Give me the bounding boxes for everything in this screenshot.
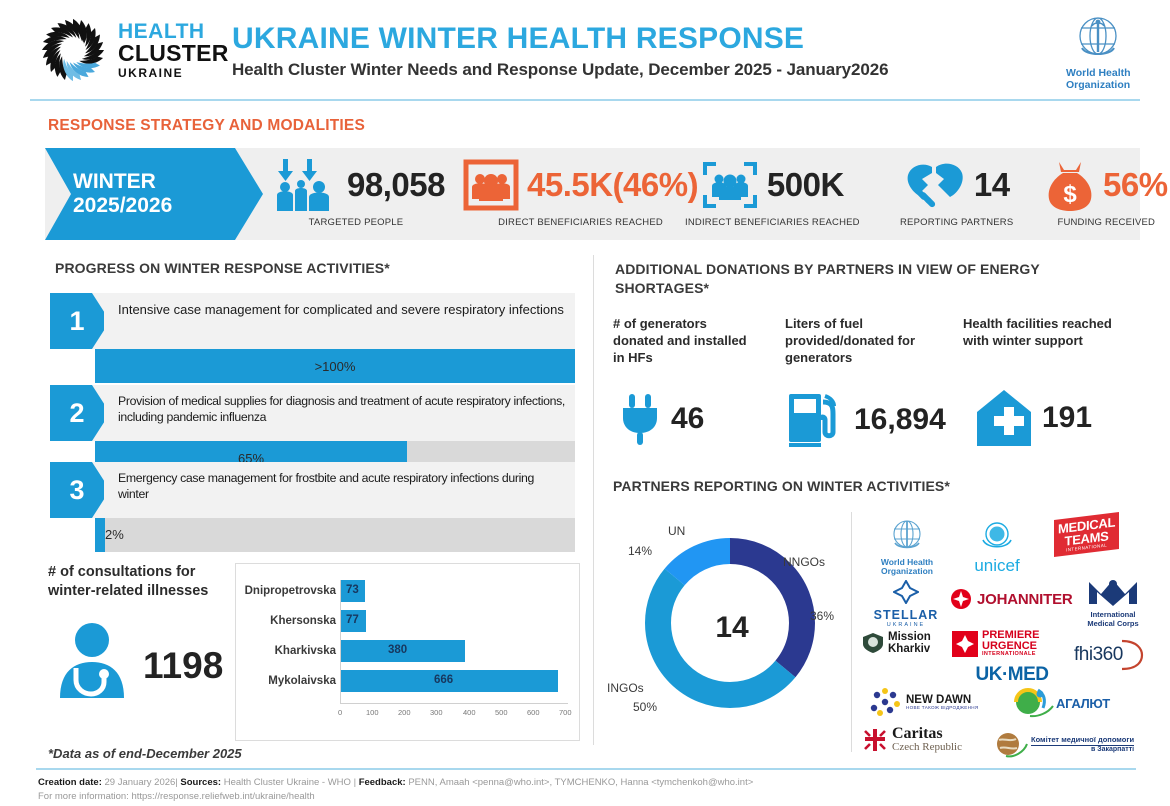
- donut-percent-ingos: 50%: [633, 700, 657, 714]
- partner-caritas-line1: Caritas: [892, 726, 962, 742]
- bar-label-0: Dnipropetrovska: [240, 585, 336, 597]
- x-tick-4: 400: [463, 708, 476, 717]
- partner-stellar-line1: STELLAR: [866, 609, 946, 622]
- progress-activity-3-text: Emergency case management for frostbite …: [104, 462, 575, 518]
- partner-johanniter-text: JOHANNITER: [977, 591, 1073, 608]
- section-title-response-strategy: RESPONSE STRATEGY AND MODALITIES: [48, 117, 365, 135]
- agalyut-globe-icon: [1010, 686, 1054, 720]
- imc-emblem-icon: [1085, 576, 1141, 606]
- doctor-stethoscope-icon: [52, 620, 132, 707]
- progress-activity-3-number: 3: [50, 462, 104, 518]
- stat-label-direct-beneficiaries: DIRECT BENEFICIARIES REACHED: [498, 217, 663, 228]
- partner-logo-agalyut: АГАЛЮТ: [1010, 686, 1150, 720]
- partner-logo-johanniter: JOHANNITER: [950, 588, 1078, 610]
- donation-value-fuel: 16,894: [854, 403, 946, 437]
- footer-more-info[interactable]: For more information: https://response.r…: [38, 790, 753, 804]
- people-frame-icon: [463, 159, 519, 211]
- stat-value-reporting-partners: 14: [974, 166, 1010, 204]
- partner-unicef-text: unicef: [957, 556, 1037, 576]
- partner-newdawn-line2: НОВЕ ТАКОЖ ВІДРОДЖЕННЯ: [906, 706, 978, 711]
- stat-direct-beneficiaries: 45.5K(46%) DIRECT BENEFICIARIES REACHED: [463, 156, 698, 240]
- x-tick-6: 600: [527, 708, 540, 717]
- stat-targeted-people: 98,058 TARGETED PEOPLE: [267, 156, 445, 240]
- stat-label-indirect-beneficiaries: INDIRECT BENEFICIARIES REACHED: [685, 217, 860, 228]
- partner-caritas-line2: Czech Republic: [892, 742, 962, 753]
- bar-label-2: Kharkivska: [240, 645, 336, 657]
- partner-logo-fhi360: fhi360: [1074, 638, 1154, 672]
- footer-creation-label: Creation date:: [38, 777, 102, 788]
- stats-band: WINTER 2025/2026 98,058 TARGETED PEOPLE: [45, 148, 1140, 240]
- health-cluster-swirl-icon: [36, 13, 110, 87]
- donut-percent-un: 14%: [628, 544, 652, 558]
- bar-label-3: Mykolaivska: [240, 675, 336, 687]
- partner-logo-komitet: Комітет медичної допомоги в Закарпатті: [994, 730, 1154, 760]
- progress-activity-1-bar-fill: >100%: [95, 349, 575, 383]
- chart-x-axis: [340, 703, 568, 704]
- donut-label-nngos: NNGOs: [783, 555, 825, 569]
- partner-stellar-line2: UKRAINE: [866, 622, 946, 628]
- who-line1: World Health: [1066, 67, 1156, 79]
- x-tick-3: 300: [430, 708, 443, 717]
- progress-activity-3-header: 3 Emergency case management for frostbit…: [50, 462, 575, 518]
- progress-activity-2-text: Provision of medical supplies for diagno…: [104, 385, 575, 441]
- people-scan-icon: [701, 159, 759, 211]
- data-as-of-note: *Data as of end-December 2025: [48, 746, 242, 761]
- partner-logo-caritas: Caritas Czech Republic: [862, 726, 988, 754]
- section-title-progress: PROGRESS ON WINTER RESPONSE ACTIVITIES*: [55, 260, 390, 276]
- winter-season-chevron: WINTER 2025/2026: [45, 148, 263, 240]
- partner-imc-line2: Medical Corps: [1087, 619, 1138, 628]
- bar-label-1: Khersonska: [240, 615, 336, 627]
- komitet-globe-icon: [994, 730, 1028, 760]
- unicef-emblem-icon: [978, 520, 1016, 552]
- section-title-donations: ADDITIONAL DONATIONS BY PARTNERS IN VIEW…: [615, 260, 1135, 298]
- people-arrows-down-icon: [267, 157, 339, 213]
- partner-logos-panel: World Health Organization unicef MEDICAL…: [862, 518, 1152, 756]
- donation-column-title-fuel: Liters of fuel provided/donated for gene…: [785, 315, 940, 366]
- partner-logo-who: World Health Organization: [866, 518, 948, 577]
- bar-value-1: 77: [346, 614, 359, 626]
- svg-text:$: $: [1063, 181, 1077, 208]
- partner-logo-premiere-urgence: PREMIERE URGENCE INTERNATIONALE: [952, 630, 1082, 658]
- logo-cluster-text: CLUSTER: [118, 42, 229, 65]
- money-bag-icon: $: [1045, 158, 1095, 212]
- header-divider: [30, 99, 1140, 101]
- page-title: UKRAINE WINTER HEALTH RESPONSE: [232, 22, 888, 56]
- new-dawn-mark-icon: [868, 686, 902, 718]
- partner-mk-line2: Kharkiv: [888, 643, 931, 655]
- progress-activity-1-header: 1 Intensive case management for complica…: [50, 293, 575, 349]
- partner-ukmed-text: UK·MED: [958, 664, 1066, 686]
- partner-pui-line3: INTERNATIONALE: [982, 652, 1039, 658]
- x-tick-2: 200: [398, 708, 411, 717]
- stat-label-funding-received: FUNDING RECEIVED: [1057, 217, 1155, 228]
- caritas-cross-icon: [862, 727, 888, 753]
- hospital-cross-icon: [975, 388, 1033, 448]
- who-name: World Health Organization: [1040, 67, 1156, 91]
- column-divider: [593, 255, 594, 745]
- partner-logo-medical-teams: MEDICAL TEAMS INTERNATIONAL: [1044, 516, 1130, 554]
- progress-activity-3-percent: 2%: [105, 527, 124, 542]
- page-subtitle: Health Cluster Winter Needs and Response…: [232, 60, 888, 80]
- who-logo: World Health Organization: [1040, 14, 1156, 91]
- partner-komitet-line2: в Закарпатті: [1031, 746, 1134, 754]
- stat-value-funding-received: 56%: [1103, 166, 1168, 204]
- stat-value-targeted-people: 98,058: [347, 166, 445, 204]
- progress-activity-2-number: 2: [50, 385, 104, 441]
- handshake-icon: [904, 159, 966, 211]
- progress-activity-2-header: 2 Provision of medical supplies for diag…: [50, 385, 575, 441]
- partner-komitet-line1: Комітет медичної допомоги: [1031, 735, 1134, 746]
- bar-value-2: 380: [388, 644, 407, 656]
- donation-column-title-facilities: Health facilities reached with winter su…: [963, 315, 1123, 349]
- stat-value-direct-beneficiaries: 45.5K(46%): [527, 166, 698, 204]
- progress-activity-1: 1 Intensive case management for complica…: [50, 293, 575, 383]
- title-block: UKRAINE WINTER HEALTH RESPONSE Health Cl…: [232, 22, 888, 80]
- bar-value-0: 73: [346, 584, 359, 596]
- partner-newdawn-line1: NEW DAWN: [906, 694, 978, 706]
- premiere-urgence-mark-icon: [952, 631, 978, 657]
- partner-logo-new-dawn: NEW DAWN НОВЕ ТАКОЖ ВІДРОДЖЕННЯ: [868, 686, 994, 718]
- partner-logo-ukmed: UK·MED: [958, 664, 1066, 686]
- footer: Creation date: 29 January 2026| Sources:…: [38, 776, 753, 805]
- donation-column-title-generators: # of generators donated and installed in…: [613, 315, 753, 366]
- page-header: HEALTH CLUSTER UKRAINE UKRAINE WINTER HE…: [0, 0, 1170, 100]
- donation-value-fuel-group: 16,894: [785, 392, 946, 448]
- x-tick-5: 500: [495, 708, 508, 717]
- progress-activity-1-text: Intensive case management for complicate…: [104, 293, 574, 349]
- partner-logo-imc: International Medical Corps: [1074, 576, 1152, 628]
- infographic-page: HEALTH CLUSTER UKRAINE UKRAINE WINTER HE…: [0, 0, 1170, 806]
- mission-kharkiv-shield-icon: [862, 632, 884, 654]
- winter-label-line2: 2025/2026: [73, 194, 263, 218]
- fhi360-arc-icon: [1120, 638, 1144, 672]
- logo-health-text: HEALTH: [118, 21, 229, 42]
- winter-label-line1: WINTER: [73, 170, 263, 194]
- partner-mk-line1: Mission: [888, 631, 931, 643]
- progress-activity-3-bar-track: 2%: [95, 518, 575, 552]
- partner-logo-mission-kharkiv: Mission Kharkiv: [862, 631, 952, 655]
- donut-logos-divider: [851, 512, 852, 752]
- footer-sources-value: Health Cluster Ukraine - WHO |: [224, 777, 356, 788]
- x-tick-1: 100: [366, 708, 379, 717]
- power-plug-icon: [618, 392, 662, 446]
- fuel-pump-icon: [785, 392, 845, 448]
- donut-label-ingos: INGOs: [607, 681, 644, 695]
- stat-funding-received: $ 56% FUNDING RECEIVED: [1045, 156, 1168, 240]
- partner-fhi360-text: fhi360: [1074, 644, 1123, 666]
- footer-sources-label: Sources:: [180, 777, 221, 788]
- bar-value-3: 666: [434, 674, 453, 686]
- donation-value-generators-group: 46: [618, 392, 704, 446]
- who-line2: Organization: [1066, 79, 1156, 91]
- consultations-title: # of consultations for winter-related il…: [48, 563, 238, 601]
- donut-label-un: UN: [668, 524, 685, 538]
- stat-indirect-beneficiaries: 500K INDIRECT BENEFICIARIES REACHED: [685, 156, 860, 240]
- partner-agalyut-text: АГАЛЮТ: [1056, 696, 1110, 711]
- progress-activity-1-bar-track: >100%: [95, 349, 575, 383]
- footer-creation-value: 29 January 2026|: [105, 777, 178, 788]
- footer-feedback-label: Feedback:: [359, 777, 406, 788]
- donation-value-facilities: 191: [1042, 401, 1092, 435]
- progress-activity-1-percent: >100%: [315, 359, 356, 374]
- consultations-bar-chart: Dnipropetrovska 73 Khersonska 77 Kharkiv…: [235, 563, 580, 741]
- health-cluster-logo: HEALTH CLUSTER UKRAINE: [36, 12, 216, 88]
- progress-activity-3: 3 Emergency case management for frostbit…: [50, 462, 575, 552]
- stat-label-targeted-people: TARGETED PEOPLE: [309, 217, 404, 228]
- partner-logo-unicef: unicef: [957, 520, 1037, 576]
- donation-value-facilities-group: 191: [975, 388, 1092, 448]
- section-title-partners: PARTNERS REPORTING ON WINTER ACTIVITIES*: [613, 478, 950, 494]
- footer-feedback-value[interactable]: PENN, Amaah <penna@who.int>, TYMCHENKO, …: [408, 777, 753, 788]
- partner-logo-stellar: STELLAR UKRAINE: [866, 580, 946, 628]
- stat-reporting-partners: 14 REPORTING PARTNERS: [900, 156, 1013, 240]
- stellar-star-icon: [893, 580, 919, 604]
- johanniter-cross-icon: [950, 588, 972, 610]
- consultations-value: 1198: [143, 645, 223, 687]
- donation-value-generators: 46: [671, 402, 704, 436]
- who-emblem-icon: [1040, 14, 1156, 60]
- footer-divider: [36, 768, 1136, 770]
- donut-percent-nngos: 36%: [810, 609, 834, 623]
- x-tick-0: 0: [338, 708, 342, 717]
- progress-activity-3-bar-fill: [95, 518, 105, 552]
- footer-line1: Creation date: 29 January 2026| Sources:…: [38, 776, 753, 790]
- progress-activity-1-number: 1: [50, 293, 104, 349]
- logo-ukraine-text: UKRAINE: [118, 67, 229, 79]
- x-tick-7: 700: [559, 708, 572, 717]
- stat-value-indirect-beneficiaries: 500K: [767, 166, 844, 204]
- stat-label-reporting-partners: REPORTING PARTNERS: [900, 217, 1013, 228]
- who-emblem-icon: [884, 518, 930, 552]
- partner-who-line2: Organization: [881, 566, 933, 576]
